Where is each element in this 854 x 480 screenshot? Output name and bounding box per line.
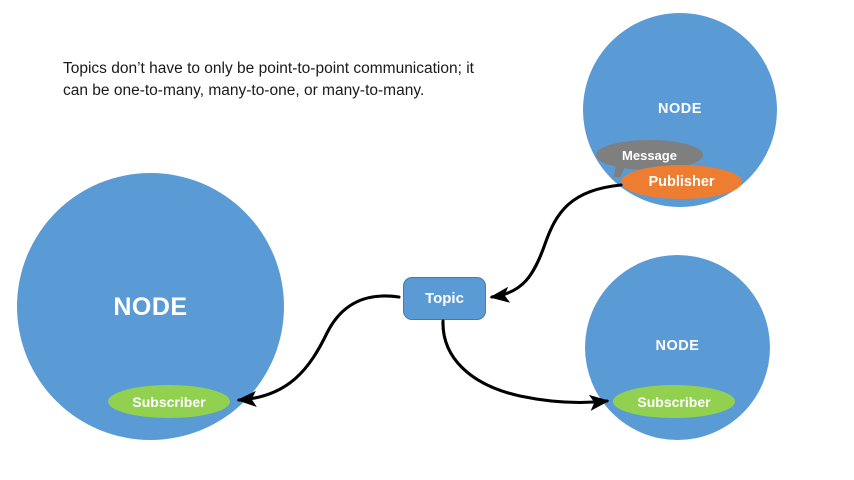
diagram-canvas: Topics don’t have to only be point-to-po… [0,0,854,480]
arrow-topic-to-subscriber-bottomright [443,321,607,402]
arrow-publisher-to-topic [492,185,621,297]
node-label-topright: NODE [583,101,777,117]
publisher-pill: Publisher [621,165,742,199]
node-label-bottomright: NODE [585,338,770,354]
subscriber-pill-left: Subscriber [108,385,230,418]
topic-box: Topic [403,277,486,320]
node-label-left: NODE [17,293,284,322]
caption-text: Topics don’t have to only be point-to-po… [63,58,483,103]
subscriber-pill-bottomright: Subscriber [613,385,735,418]
